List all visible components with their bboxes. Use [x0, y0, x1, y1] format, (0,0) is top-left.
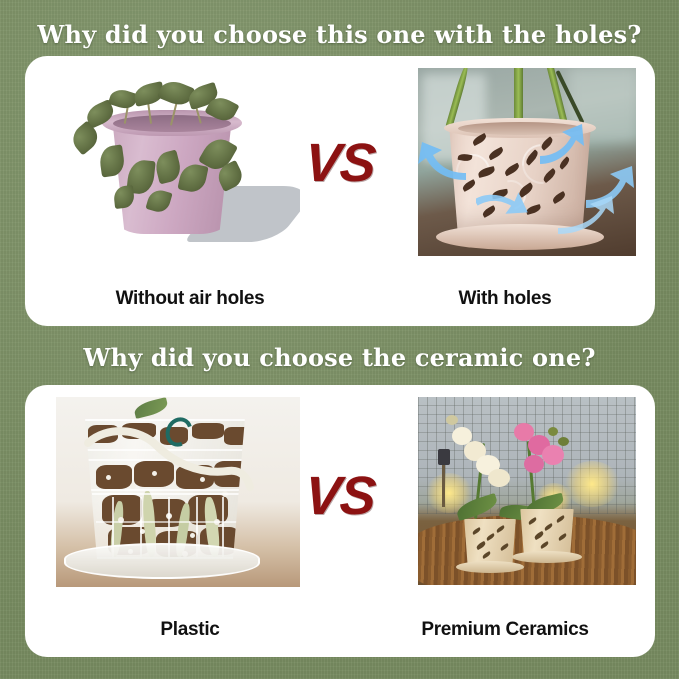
vs-badge-1: VS — [25, 132, 655, 194]
caption-left-1-line1: Without air holes — [25, 288, 355, 310]
caption-right-2-line1: Premium Ceramics — [355, 619, 655, 641]
section-2-heading: Why did you choose the ceramic one? — [0, 343, 679, 372]
caption-left-2-line1: Plastic — [25, 619, 355, 641]
comparison-card-2: VS Plastic Ugly and not durable Premium … — [25, 385, 655, 657]
caption-left-2: Plastic Ugly and not durable — [25, 597, 355, 657]
caption-right-2: Premium Ceramics Beautiful and durable — [355, 597, 655, 657]
airflow-arrow-lower-right — [558, 196, 618, 236]
section-1-heading: Why did you choose this one with the hol… — [0, 20, 679, 49]
vs-badge-2: VS — [25, 465, 655, 527]
caption-right-1-line1: With holes — [355, 288, 655, 310]
comparison-card-1: VS Without air holes orchid roots can’t … — [25, 56, 655, 326]
caption-left-1: Without air holes orchid roots can’t bre… — [25, 266, 355, 326]
caption-right-1: With holes Good for air circulation — [355, 266, 655, 326]
